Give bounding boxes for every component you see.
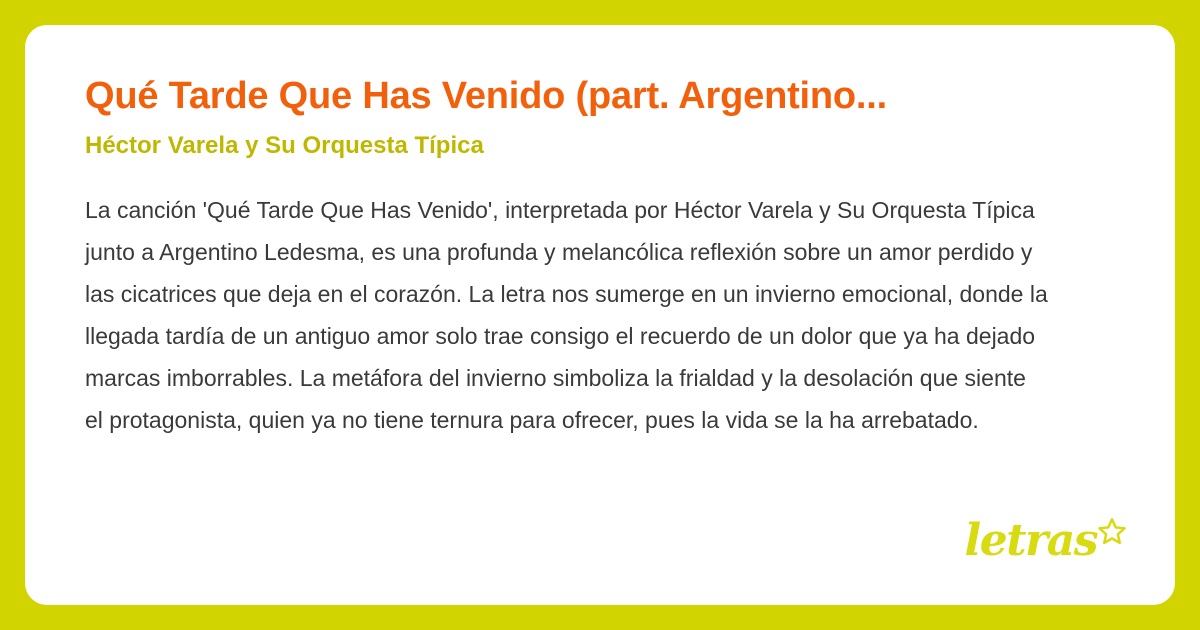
song-description: La canción 'Qué Tarde Que Has Venido', i… (85, 189, 1050, 441)
share-card-page: Qué Tarde Que Has Venido (part. Argentin… (0, 0, 1200, 630)
lyrics-summary-card: Qué Tarde Que Has Venido (part. Argentin… (25, 25, 1175, 605)
star-icon (1097, 516, 1127, 551)
artist-name: Héctor Varela y Su Orquesta Típica (85, 131, 1115, 161)
letras-wordmark: letras (965, 519, 1098, 563)
page-title: Qué Tarde Que Has Venido (part. Argentin… (85, 73, 1115, 119)
letras-logo: letras (965, 516, 1128, 563)
